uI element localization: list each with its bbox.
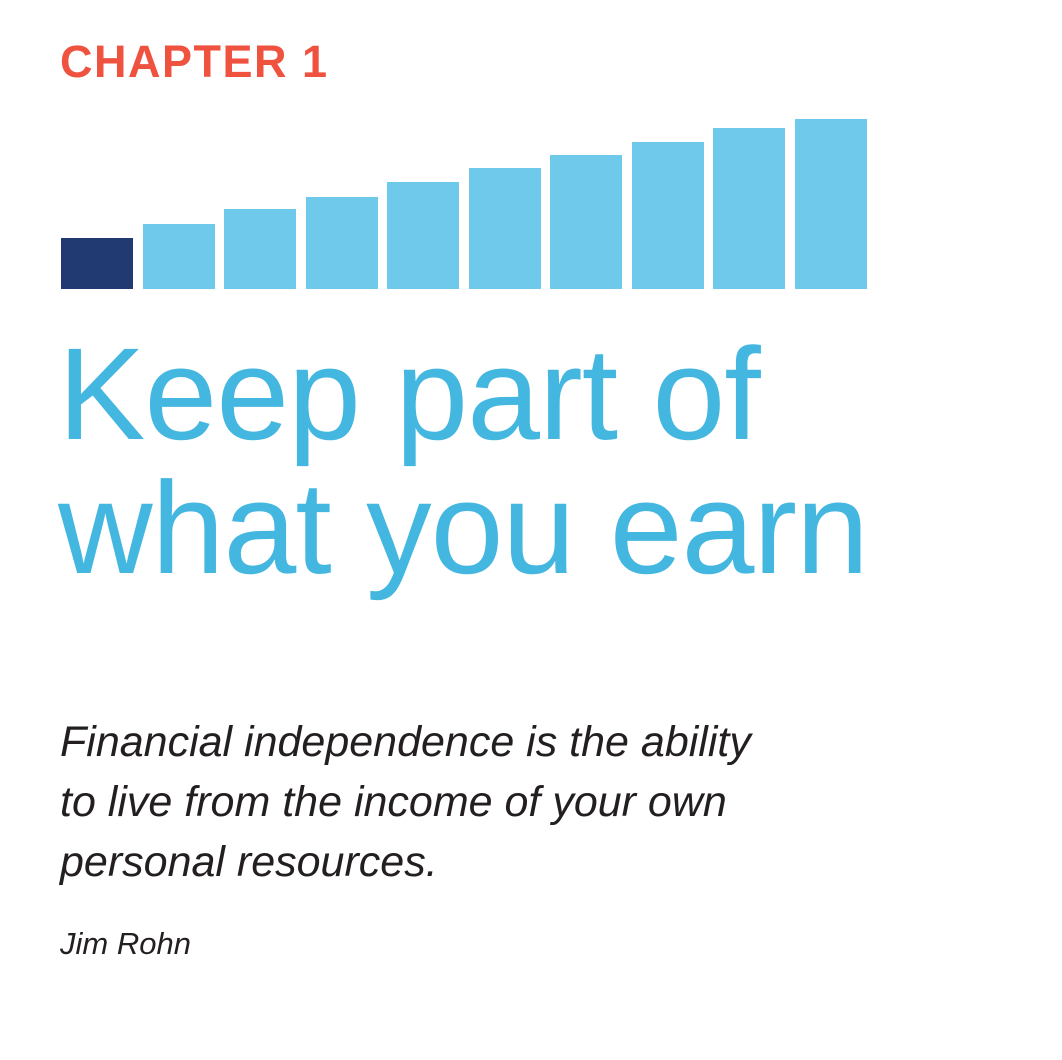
bar-chart-bar [224,209,296,289]
bar-chart [61,108,867,289]
bar-chart-bar [306,197,378,289]
quote-line-2: to live from the income of your own [60,772,940,832]
bar-chart-bar [632,142,704,289]
bar-chart-bar [387,182,459,289]
bar-chart-bar [61,238,133,289]
bar-chart-bar [795,119,867,289]
bar-chart-bar [550,155,622,289]
bar-chart-plot-area [61,108,867,289]
bar-chart-bar [713,128,785,289]
quote-line-1: Financial independence is the ability [60,712,940,772]
bar-chart-bar [469,168,541,289]
quote-line-3: personal resources. [60,832,940,892]
page-title: Keep part of what you earn [58,327,978,595]
chapter-opener-page: CHAPTER 1 Keep part of what you earn Fin… [0,0,1062,1060]
bar-chart-bar [143,224,215,289]
chapter-label: CHAPTER 1 [60,37,329,87]
quote-text: Financial independence is the ability to… [60,712,940,892]
page-title-line-2: what you earn [58,461,978,595]
page-title-line-1: Keep part of [58,327,978,461]
quote-attribution: Jim Rohn [60,925,191,963]
